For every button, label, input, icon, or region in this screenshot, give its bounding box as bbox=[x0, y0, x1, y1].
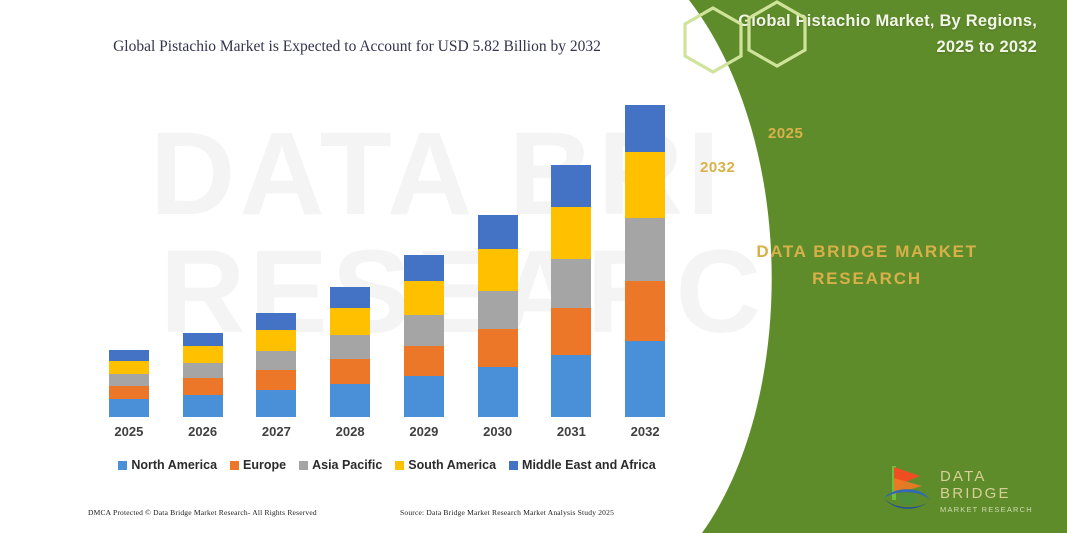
bar-segment bbox=[183, 333, 223, 346]
stacked-bar[interactable] bbox=[183, 333, 223, 417]
legend-label: North America bbox=[131, 458, 217, 472]
bar-column bbox=[535, 105, 609, 417]
hexagon-2025-label: 2025 bbox=[768, 125, 803, 142]
legend-label: South America bbox=[408, 458, 496, 472]
bar-segment bbox=[551, 207, 591, 259]
x-axis-tick-label: 2028 bbox=[313, 424, 387, 446]
legend-item[interactable]: Asia Pacific bbox=[299, 458, 382, 472]
bar-segment bbox=[404, 346, 444, 377]
bar-segment bbox=[183, 378, 223, 395]
bar-segment bbox=[109, 386, 149, 399]
stacked-bar[interactable] bbox=[478, 215, 518, 417]
footer: DMCA Protected © Data Bridge Market Rese… bbox=[0, 508, 700, 528]
bar-column bbox=[240, 105, 314, 417]
x-axis-tick-label: 2029 bbox=[387, 424, 461, 446]
chart-title: Global Pistachio Market is Expected to A… bbox=[92, 33, 622, 60]
legend-item[interactable]: Europe bbox=[230, 458, 286, 472]
legend-label: Europe bbox=[243, 458, 286, 472]
x-axis-tick-label: 2027 bbox=[240, 424, 314, 446]
stacked-bar[interactable] bbox=[551, 165, 591, 417]
bar-segment bbox=[183, 346, 223, 363]
bridge-logo-icon bbox=[880, 460, 938, 516]
bar-segment bbox=[330, 359, 370, 384]
footer-copyright: DMCA Protected © Data Bridge Market Rese… bbox=[88, 508, 317, 517]
bar-segment bbox=[330, 287, 370, 308]
bar-segment bbox=[404, 315, 444, 346]
bar-segment bbox=[478, 329, 518, 367]
bar-segment bbox=[478, 367, 518, 417]
logo-wordmark-line-1: DATA BRIDGE bbox=[940, 468, 1060, 502]
legend-label: Asia Pacific bbox=[312, 458, 382, 472]
bar-segment bbox=[256, 370, 296, 390]
legend-item[interactable]: South America bbox=[395, 458, 496, 472]
bar-segment bbox=[551, 308, 591, 355]
legend-item[interactable]: Middle East and Africa bbox=[509, 458, 656, 472]
bar-segment bbox=[330, 335, 370, 359]
brand-name-line-1: DATA BRIDGE MARKET bbox=[667, 238, 1067, 265]
legend-swatch-icon bbox=[509, 461, 518, 470]
chart-legend: North AmericaEuropeAsia PacificSouth Ame… bbox=[92, 455, 682, 475]
bar-column bbox=[166, 105, 240, 417]
brand-name: DATA BRIDGE MARKET RESEARCH bbox=[667, 238, 1067, 292]
bar-segment bbox=[478, 291, 518, 330]
bar-segment bbox=[404, 255, 444, 282]
x-axis-tick-label: 2031 bbox=[535, 424, 609, 446]
legend-label: Middle East and Africa bbox=[522, 458, 656, 472]
bar-segment bbox=[478, 249, 518, 291]
x-axis-tick-label: 2025 bbox=[92, 424, 166, 446]
bar-segment bbox=[478, 215, 518, 249]
stacked-bar[interactable] bbox=[109, 350, 149, 417]
brand-panel: Global Pistachio Market, By Regions, 202… bbox=[667, 0, 1067, 533]
hexagon-2032-label: 2032 bbox=[700, 159, 735, 176]
bar-segment bbox=[183, 395, 223, 417]
footer-source: Source: Data Bridge Market Research Mark… bbox=[400, 508, 614, 517]
stacked-bar[interactable] bbox=[625, 105, 665, 417]
brand-name-line-2: RESEARCH bbox=[667, 265, 1067, 292]
logo-wordmark-line-2: MARKET RESEARCH bbox=[940, 505, 1060, 514]
x-axis-tick-label: 2030 bbox=[461, 424, 535, 446]
bar-column bbox=[92, 105, 166, 417]
bar-segment bbox=[330, 384, 370, 417]
bar-column bbox=[313, 105, 387, 417]
bar-segment bbox=[256, 390, 296, 417]
infographic-root: DATA BRI RESEARCH Global Pistachio Marke… bbox=[0, 0, 1067, 533]
legend-item[interactable]: North America bbox=[118, 458, 217, 472]
stacked-bar[interactable] bbox=[256, 313, 296, 417]
bar-segment bbox=[256, 330, 296, 351]
x-axis-labels: 20252026202720282029203020312032 bbox=[92, 424, 682, 446]
bar-segment bbox=[625, 105, 665, 152]
stacked-bar[interactable] bbox=[330, 287, 370, 417]
legend-swatch-icon bbox=[230, 461, 239, 470]
stacked-bar-group bbox=[92, 105, 682, 417]
hexagon-2025 bbox=[749, 2, 805, 66]
bar-segment bbox=[551, 355, 591, 417]
bar-segment bbox=[551, 259, 591, 308]
logo-wordmark: DATA BRIDGE MARKET RESEARCH bbox=[940, 468, 1060, 514]
bar-segment bbox=[330, 308, 370, 335]
legend-swatch-icon bbox=[118, 461, 127, 470]
bar-column bbox=[461, 105, 535, 417]
bar-segment bbox=[404, 376, 444, 417]
hexagon-pair bbox=[667, 0, 837, 105]
hexagon-2032 bbox=[685, 8, 741, 72]
bar-segment bbox=[625, 218, 665, 281]
stacked-bar[interactable] bbox=[404, 255, 444, 417]
bar-segment bbox=[551, 165, 591, 207]
company-logo[interactable]: DATA BRIDGE MARKET RESEARCH bbox=[880, 458, 1060, 520]
legend-swatch-icon bbox=[299, 461, 308, 470]
bar-segment bbox=[109, 361, 149, 374]
bar-segment bbox=[256, 313, 296, 330]
x-axis-tick-label: 2026 bbox=[166, 424, 240, 446]
legend-swatch-icon bbox=[395, 461, 404, 470]
bar-segment bbox=[109, 374, 149, 386]
chart-plot-area bbox=[92, 105, 682, 417]
bar-segment bbox=[183, 363, 223, 378]
bar-segment bbox=[109, 350, 149, 361]
bar-segment bbox=[256, 351, 296, 370]
bar-segment bbox=[625, 341, 665, 417]
bar-segment bbox=[625, 152, 665, 217]
bar-column bbox=[387, 105, 461, 417]
bar-segment bbox=[625, 281, 665, 341]
bar-segment bbox=[109, 399, 149, 417]
bar-segment bbox=[404, 281, 444, 315]
